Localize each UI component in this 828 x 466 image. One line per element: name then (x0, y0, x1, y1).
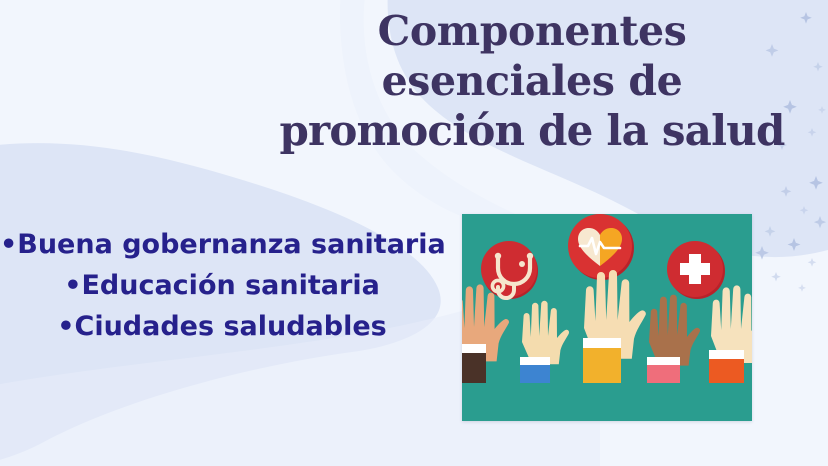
slide-title: Componentes esenciales de promoción de l… (272, 6, 792, 156)
illustration-floor (462, 413, 752, 421)
title-line-3: promoción de la salud (272, 106, 792, 156)
title-line-2: esenciales de (272, 56, 792, 106)
bullet-item-3: •Ciudades saludables (0, 306, 444, 347)
bullet-item-2: •Educación sanitaria (0, 265, 444, 306)
bullet-item-1: •Buena gobernanza sanitaria (0, 224, 444, 265)
bullet-list: •Buena gobernanza sanitaria •Educación s… (0, 224, 444, 347)
slide-canvas: Componentes esenciales de promoción de l… (0, 0, 828, 466)
raised-hands-health-illustration (462, 214, 752, 421)
title-line-1: Componentes (272, 6, 792, 56)
